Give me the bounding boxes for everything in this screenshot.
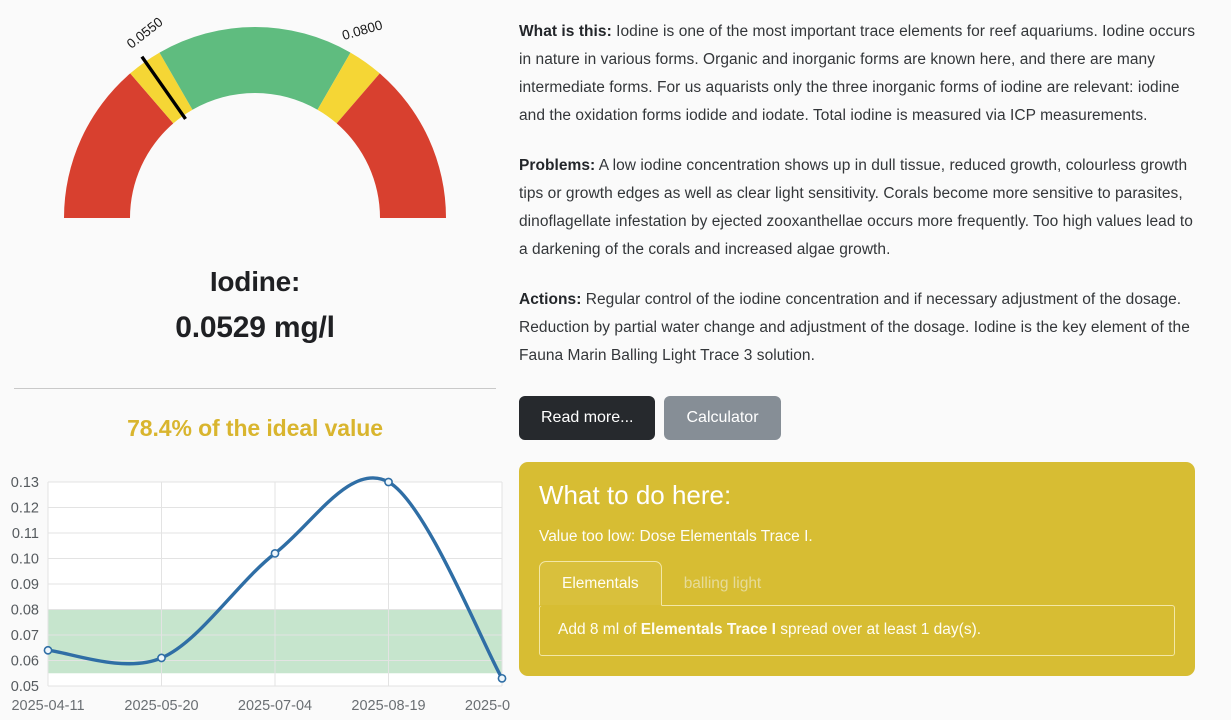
dose-prefix: Add 8 ml of: [558, 621, 641, 638]
history-line-chart: 0.130.120.110.100.090.080.070.060.052025…: [0, 464, 510, 719]
chart-data-point[interactable]: [44, 647, 51, 654]
chart-ytick-label: 0.12: [11, 501, 39, 517]
chart-xtick-label: 2025-04-11: [11, 698, 84, 714]
chart-ytick-label: 0.07: [11, 628, 39, 644]
dose-suffix: spread over at least 1 day(s).: [776, 621, 981, 638]
dosing-tabs: Elementals balling light: [539, 561, 1175, 605]
gauge-high-threshold-label: 0.0800: [340, 17, 384, 43]
what-to-do-title: What to do here:: [539, 480, 1175, 511]
info-heading-actions: Actions:: [519, 291, 581, 308]
chart-ytick-label: 0.06: [11, 654, 39, 670]
chart-ytick-label: 0.13: [11, 475, 39, 491]
action-button-row: Read more... Calculator: [519, 396, 1195, 440]
element-detail-page: 0.0550 0.0800 Iodine: 0.0529 mg/l 78.4% …: [0, 0, 1231, 720]
gauge-chart: 0.0550 0.0800: [0, 0, 510, 240]
gauge-widget: 0.0550 0.0800: [0, 0, 510, 250]
info-body-what-is-this: Iodine is one of the most important trac…: [519, 23, 1195, 124]
tab-balling-light[interactable]: balling light: [662, 562, 784, 605]
chart-data-point[interactable]: [158, 655, 165, 662]
info-paragraph-problems: Problems: A low iodine concentration sho…: [519, 152, 1195, 264]
chart-xtick-label: 2025-07-04: [238, 698, 312, 714]
ideal-value-percent: 78.4% of the ideal value: [0, 415, 510, 442]
chart-ytick-label: 0.09: [11, 577, 39, 593]
chart-data-point[interactable]: [271, 550, 278, 557]
gauge-low-threshold-label: 0.0550: [124, 14, 166, 51]
history-chart-widget: 0.130.120.110.100.090.080.070.060.052025…: [0, 464, 510, 719]
info-body-problems: A low iodine concentration shows up in d…: [519, 157, 1193, 258]
read-more-button[interactable]: Read more...: [519, 396, 655, 440]
chart-xtick-label: 2025-09-26: [465, 698, 510, 714]
dose-product-name: Elementals Trace I: [641, 621, 776, 638]
info-paragraph-actions: Actions: Regular control of the iodine c…: [519, 286, 1195, 370]
right-column: What is this: Iodine is one of the most …: [510, 0, 1231, 720]
dose-instruction: Add 8 ml of Elementals Trace I spread ov…: [539, 605, 1175, 655]
chart-ytick-label: 0.08: [11, 603, 39, 619]
chart-xtick-label: 2025-08-19: [351, 698, 425, 714]
chart-ytick-label: 0.05: [11, 679, 39, 695]
element-name-title: Iodine:: [0, 266, 510, 298]
chart-data-point[interactable]: [498, 675, 505, 682]
calculator-button[interactable]: Calculator: [664, 396, 780, 440]
tab-elementals[interactable]: Elementals: [539, 561, 662, 606]
chart-data-point[interactable]: [385, 479, 392, 486]
info-paragraph-what-is-this: What is this: Iodine is one of the most …: [519, 18, 1195, 130]
chart-xtick-label: 2025-05-20: [124, 698, 198, 714]
section-divider: [14, 388, 496, 389]
left-column: 0.0550 0.0800 Iodine: 0.0529 mg/l 78.4% …: [0, 0, 510, 720]
what-to-do-panel: What to do here: Value too low: Dose Ele…: [519, 462, 1195, 676]
info-heading-what-is-this: What is this:: [519, 23, 612, 40]
element-value-readout: 0.0529 mg/l: [0, 310, 510, 346]
info-heading-problems: Problems:: [519, 157, 595, 174]
what-to-do-subtitle: Value too low: Dose Elementals Trace I.: [539, 527, 1175, 547]
chart-ytick-label: 0.11: [12, 526, 39, 542]
chart-ytick-label: 0.10: [11, 552, 39, 568]
info-body-actions: Regular control of the iodine concentrat…: [519, 291, 1190, 364]
gauge-segment: [160, 27, 351, 110]
